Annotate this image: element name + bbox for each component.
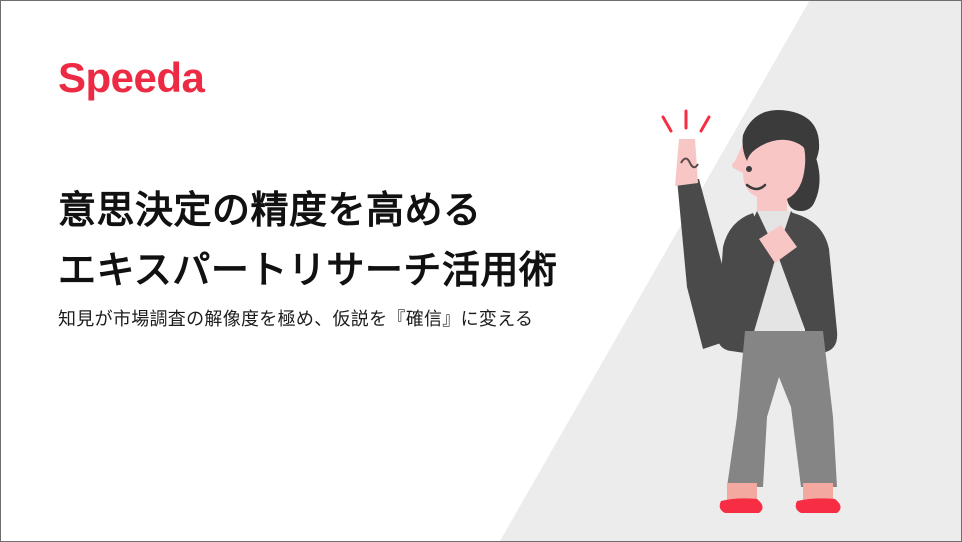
headline-line-2: エキスパートリサーチ活用術 <box>58 241 557 301</box>
subtitle: 知見が市場調査の解像度を極め、仮説を『確信』に変える <box>58 306 533 333</box>
woman-raising-index-finger-illustration <box>641 87 901 517</box>
right-shoe <box>796 498 841 513</box>
trousers <box>727 331 837 487</box>
eye <box>746 166 752 172</box>
speeda-logo: Speeda <box>58 57 204 99</box>
emphasis-marks-icon <box>663 111 709 131</box>
pointing-hand <box>675 139 698 186</box>
title-slide: Speeda 意思決定の精度を高める エキスパートリサーチ活用術 知見が市場調査… <box>0 0 962 542</box>
headline-line-1: 意思決定の精度を高める <box>58 181 557 241</box>
page-title: 意思決定の精度を高める エキスパートリサーチ活用術 <box>58 181 557 301</box>
left-shoe <box>720 498 763 513</box>
